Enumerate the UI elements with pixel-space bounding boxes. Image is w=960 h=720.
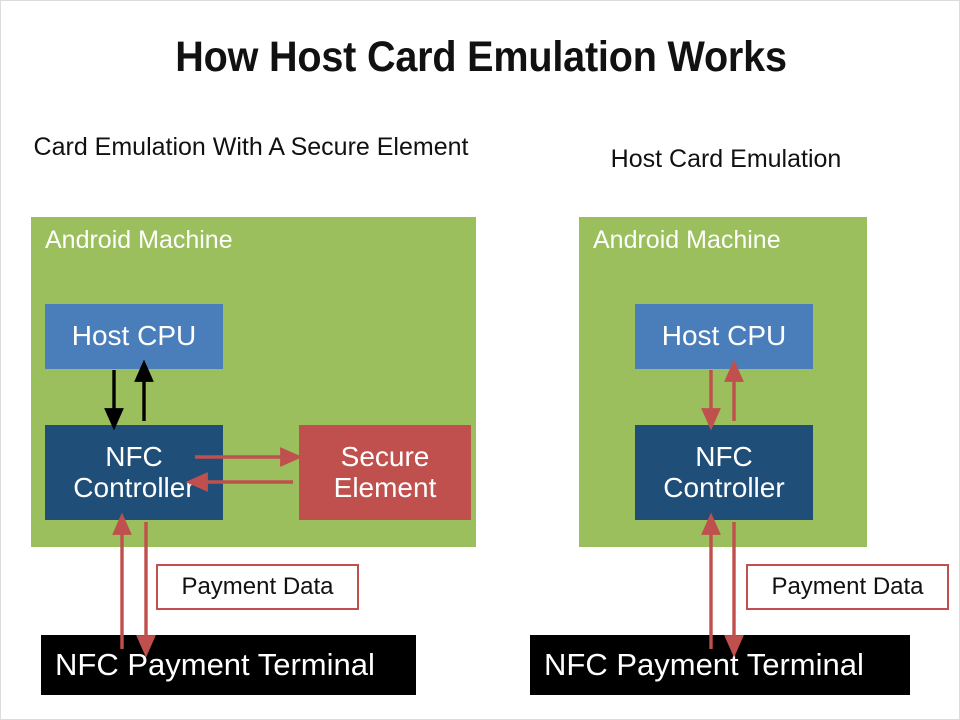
nfc-controller-box-right[interactable]: NFC Controller <box>635 425 813 520</box>
nfc-payment-terminal-left[interactable]: NFC Payment Terminal <box>41 635 416 695</box>
host-cpu-box-left[interactable]: Host CPU <box>45 304 223 369</box>
panel-caption-secure-element: Card Emulation With A Secure Element <box>31 132 471 163</box>
machine-label-right: Android Machine <box>593 226 781 255</box>
panel-caption-host-card-emulation: Host Card Emulation <box>546 144 906 175</box>
nfc-payment-terminal-right[interactable]: NFC Payment Terminal <box>530 635 910 695</box>
android-machine-panel-right: Android Machine Host CPU NFC Controller <box>579 217 867 547</box>
host-cpu-box-right[interactable]: Host CPU <box>635 304 813 369</box>
machine-label-left: Android Machine <box>45 226 233 255</box>
android-machine-panel-left: Android Machine Host CPU NFC Controller … <box>31 217 476 547</box>
payment-data-callout-right: Payment Data <box>746 564 949 610</box>
page-title: How Host Card Emulation Works <box>39 33 922 82</box>
secure-element-box-left[interactable]: Secure Element <box>299 425 471 520</box>
nfc-controller-box-left[interactable]: NFC Controller <box>45 425 223 520</box>
slide-canvas: How Host Card Emulation Works Card Emula… <box>0 0 960 720</box>
payment-data-callout-left: Payment Data <box>156 564 359 610</box>
